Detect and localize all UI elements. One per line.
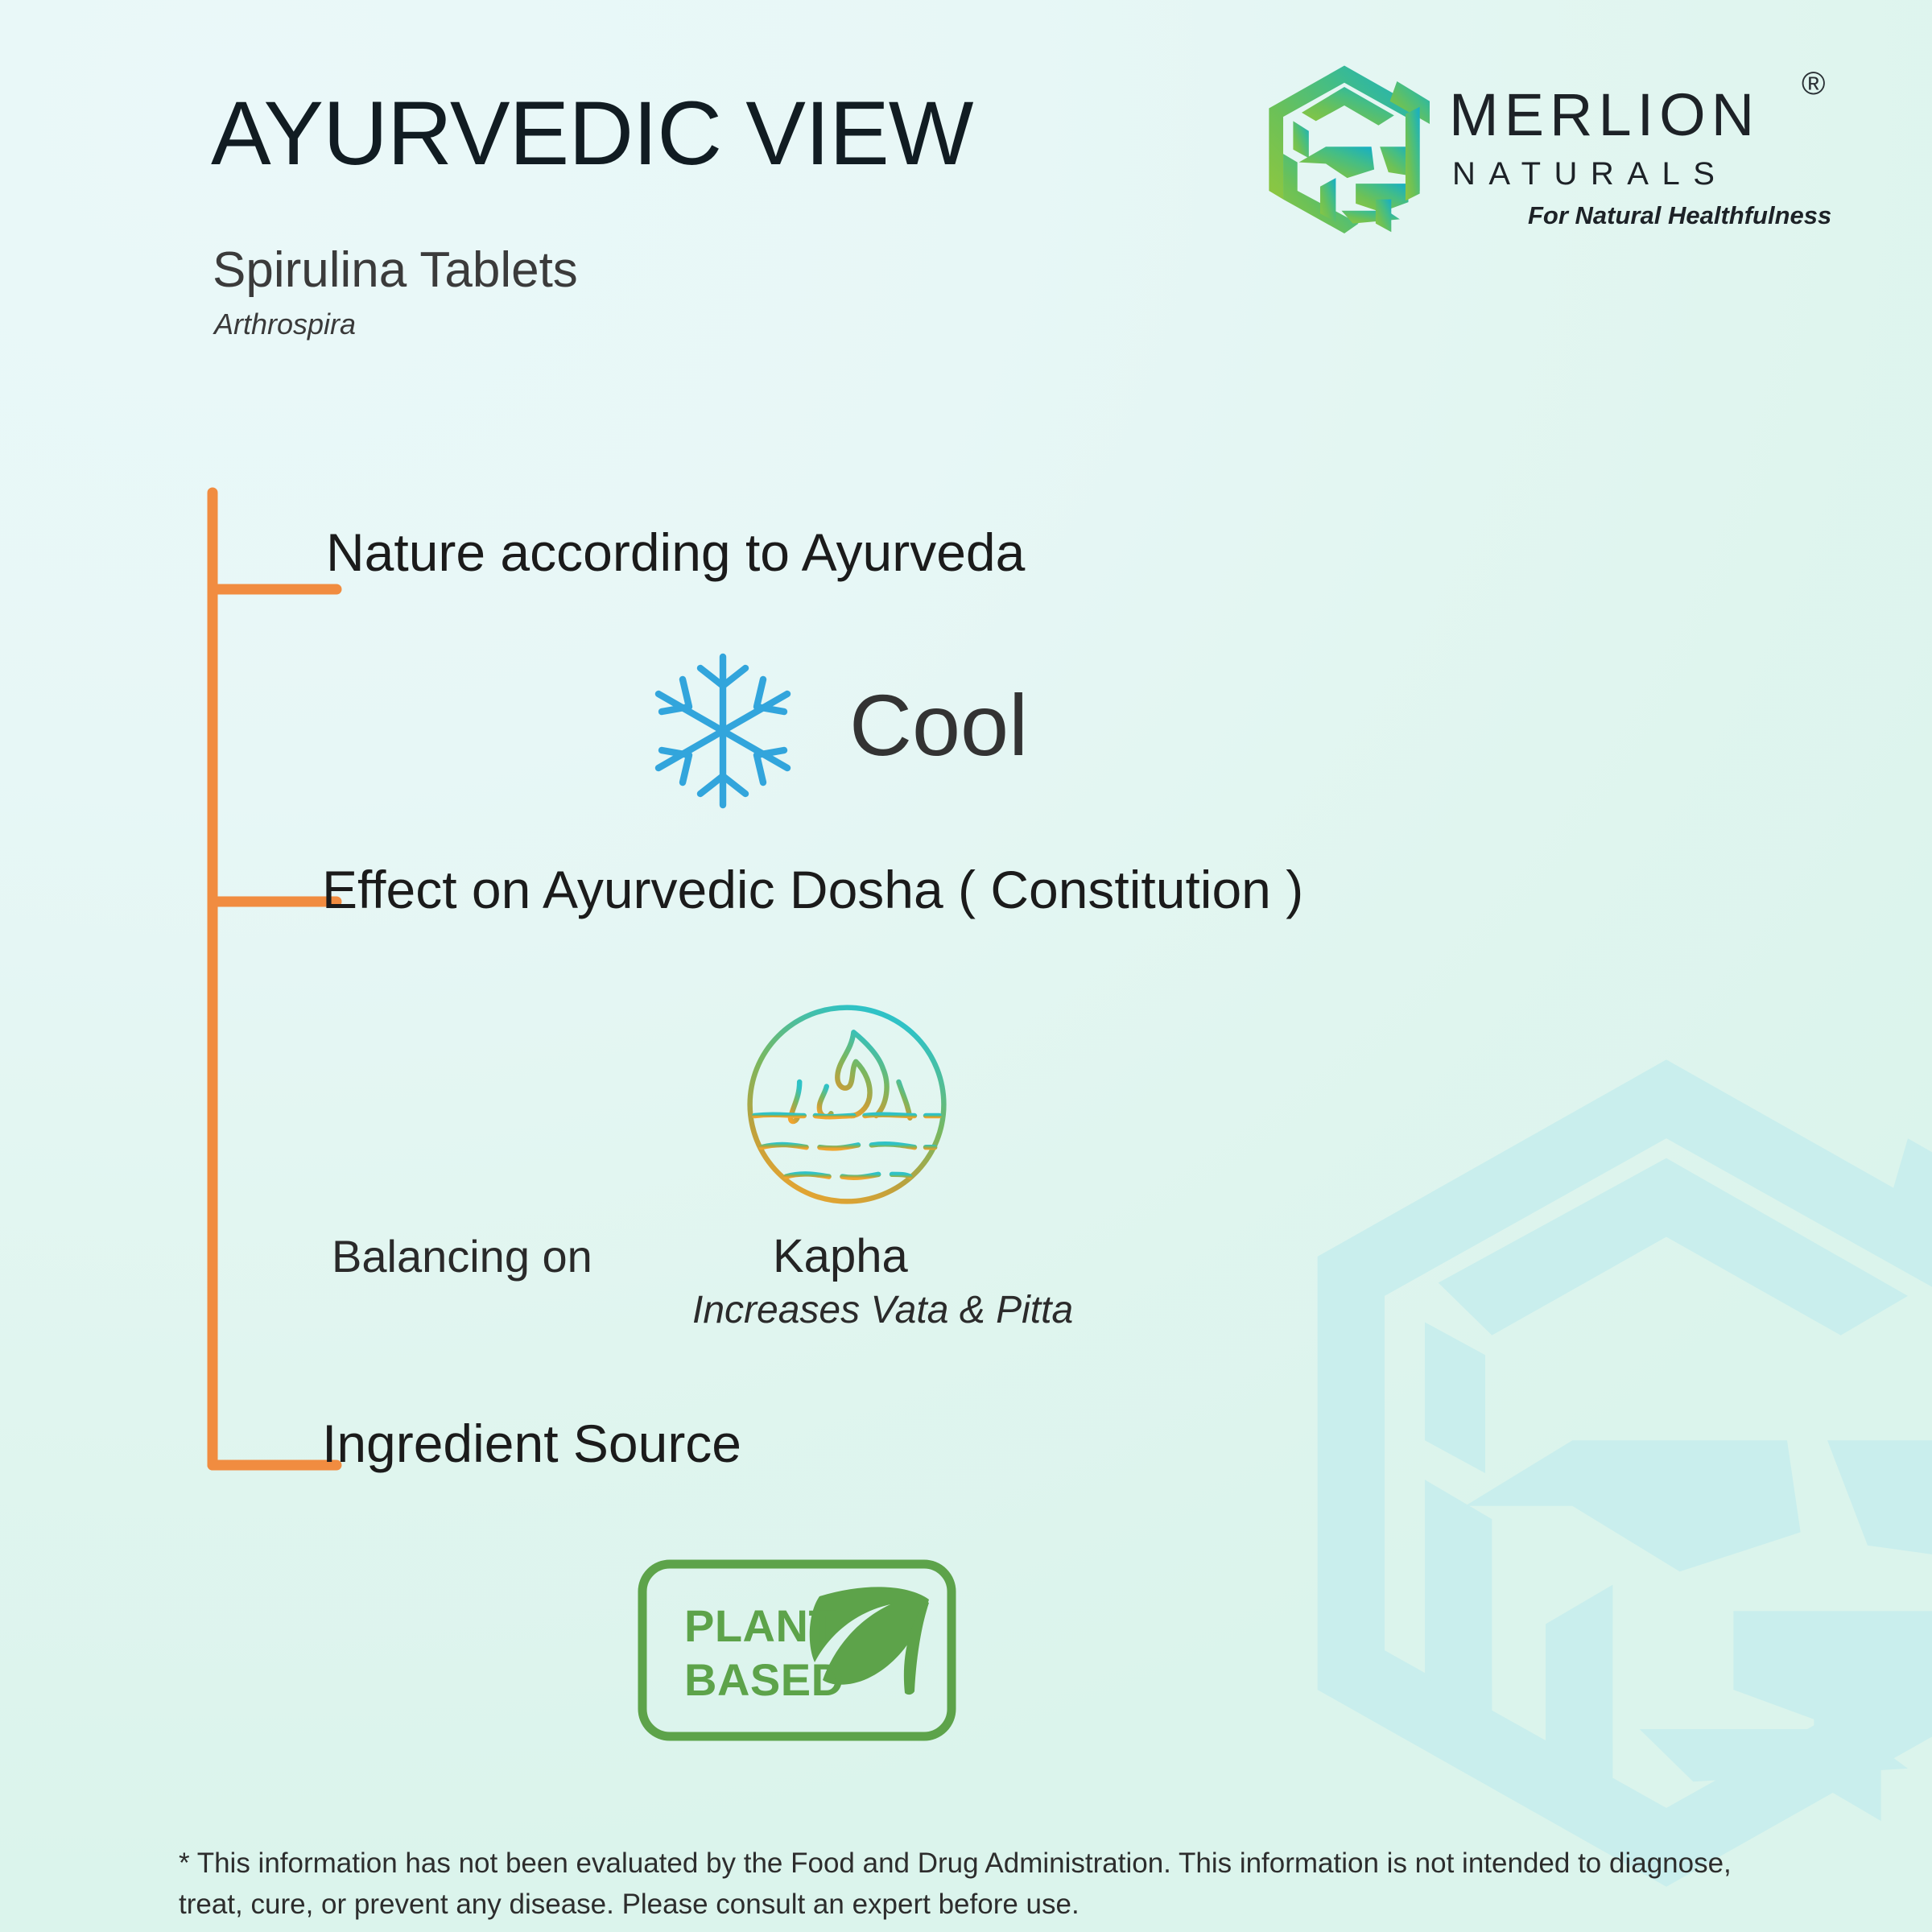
registered-trademark-icon: ®: [1802, 66, 1825, 102]
badge-line-2: BASED: [684, 1653, 844, 1706]
section-heading-dosha: Effect on Ayurvedic Dosha ( Constitution…: [322, 859, 1303, 920]
badge-line-1: PLANT: [684, 1600, 836, 1652]
merlion-hexagon-logo-icon: [1256, 63, 1433, 233]
dosha-fire-water-circle-icon: [734, 992, 960, 1217]
brand-sub-name: NATURALS: [1452, 156, 1728, 192]
brand-name: MERLION: [1449, 80, 1760, 149]
snowflake-icon: [642, 650, 803, 811]
disclaimer-text: * This information has not been evaluate…: [179, 1843, 1757, 1926]
page-title: AYURVEDIC VIEW: [211, 89, 972, 179]
dosha-note: Increases Vata & Pitta: [692, 1288, 1073, 1332]
infographic-canvas: AYURVEDIC VIEW Spirulina Tablets Arthros…: [0, 0, 1932, 1932]
merlion-hexagon-watermark-icon: [1264, 1046, 1932, 1900]
botanical-name: Arthrospira: [214, 308, 356, 341]
dosha-name: Kapha: [773, 1229, 908, 1283]
product-name: Spirulina Tablets: [213, 242, 578, 299]
section-heading-nature: Nature according to Ayurveda: [326, 522, 1025, 583]
section-heading-ingredient-source: Ingredient Source: [322, 1413, 741, 1474]
balancing-label: Balancing on: [332, 1230, 592, 1282]
section-bracket-connector: [193, 467, 354, 1497]
brand-logo: MERLION ® NATURALS For Natural Healthful…: [1256, 58, 1835, 243]
plant-based-badge: PLANT BASED: [636, 1558, 958, 1743]
brand-tagline: For Natural Healthfulness: [1528, 201, 1831, 230]
nature-value: Cool: [849, 675, 1028, 775]
